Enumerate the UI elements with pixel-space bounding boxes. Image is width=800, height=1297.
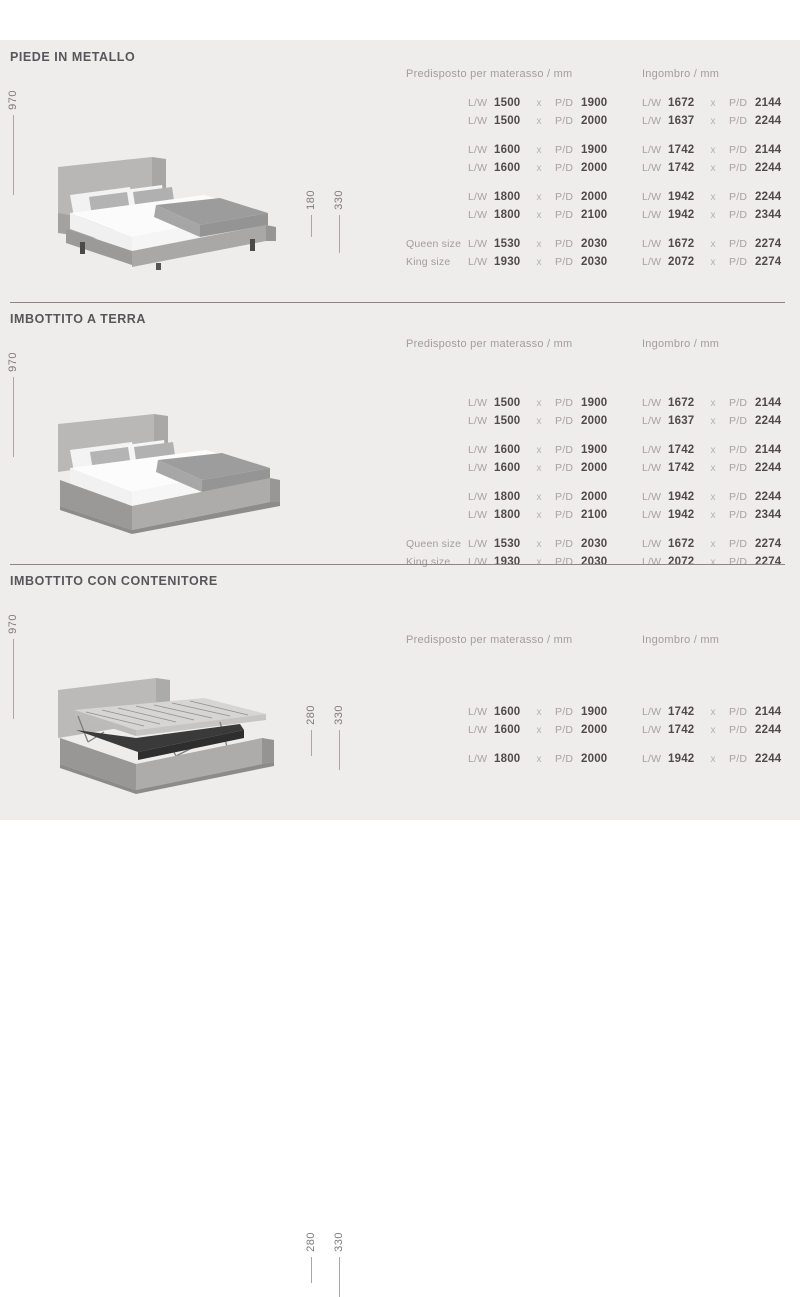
depth-value: 2000 — [581, 162, 621, 174]
table-row: L/W 1742 x P/D 2144 — [642, 706, 795, 724]
lw-label: L/W — [642, 97, 668, 109]
lw-label: L/W — [642, 538, 668, 550]
dimension-label: 180 — [306, 190, 317, 210]
lw-label: L/W — [468, 753, 494, 765]
depth-value: 2244 — [755, 115, 795, 127]
separator: x — [534, 116, 544, 127]
separator: x — [534, 492, 544, 503]
lw-label: L/W — [468, 491, 494, 503]
table-row: King size L/W 1930 x P/D 2030 — [406, 256, 621, 274]
section-imbottito-con-contenitore: IMBOTTITO CON CONTENITORE 970 — [0, 564, 800, 820]
width-value: 2072 — [668, 256, 708, 268]
overall-group-1: L/W 1742 x P/D 2144 L/W 1742 x P/D 2244 — [642, 706, 795, 742]
separator: x — [708, 98, 718, 109]
overall-group-2: L/W 1742 x P/D 2144 L/W 1742 x P/D 2244 — [642, 444, 795, 480]
table-row: L/W 1742 x P/D 2144 — [642, 444, 795, 462]
height-dimension-970: 970 — [8, 352, 19, 457]
table-row: L/W 1600 x P/D 1900 — [406, 144, 621, 162]
lw-label: L/W — [468, 509, 494, 521]
mattress-group-2: L/W 1600 x P/D 1900 L/W 1600 x P/D 2000 — [406, 444, 621, 480]
pd-label: P/D — [555, 415, 581, 427]
separator: x — [708, 754, 718, 765]
mattress-group-1: L/W 1500 x P/D 1900 L/W 1500 x P/D 2000 — [406, 397, 621, 433]
pd-label: P/D — [729, 491, 755, 503]
lw-label: L/W — [468, 238, 494, 250]
table-row: L/W 1942 x P/D 2244 — [642, 491, 795, 509]
mattress-group-4: Queen size L/W 1530 x P/D 2030 King size… — [406, 238, 621, 274]
depth-value: 2244 — [755, 491, 795, 503]
width-value: 1530 — [494, 238, 534, 250]
column-header-overall: Ingombro / mm — [642, 338, 719, 350]
separator: x — [534, 239, 544, 250]
width-value: 1672 — [668, 397, 708, 409]
lw-label: L/W — [642, 706, 668, 718]
separator: x — [534, 445, 544, 456]
dimension-line — [13, 115, 14, 195]
width-value: 1742 — [668, 144, 708, 156]
table-row: L/W 1500 x P/D 1900 — [406, 97, 621, 115]
table-row: L/W 1800 x P/D 2100 — [406, 509, 621, 527]
width-value: 1742 — [668, 706, 708, 718]
lw-label: L/W — [468, 115, 494, 127]
width-value: 1672 — [668, 538, 708, 550]
table-row: Queen size L/W 1530 x P/D 2030 — [406, 538, 621, 556]
table-row: L/W 1500 x P/D 2000 — [406, 415, 621, 433]
pd-label: P/D — [729, 256, 755, 268]
separator: x — [534, 416, 544, 427]
dimension-280: 280 — [306, 1232, 317, 1283]
table-row: L/W 1942 x P/D 2244 — [642, 753, 795, 771]
depth-value: 1900 — [581, 144, 621, 156]
width-value: 1742 — [668, 724, 708, 736]
lw-label: L/W — [468, 144, 494, 156]
pd-label: P/D — [555, 256, 581, 268]
storage-bed-illustration — [44, 664, 294, 799]
width-value: 1800 — [494, 191, 534, 203]
lw-label: L/W — [642, 509, 668, 521]
section-divider — [10, 302, 785, 303]
height-dimension-970: 970 — [8, 90, 19, 195]
lw-label: L/W — [642, 191, 668, 203]
width-value: 1800 — [494, 509, 534, 521]
width-value: 1800 — [494, 491, 534, 503]
pd-label: P/D — [729, 144, 755, 156]
bed-image-metal-leg — [44, 145, 294, 270]
table-row: L/W 1637 x P/D 2244 — [642, 115, 795, 133]
pd-label: P/D — [729, 509, 755, 521]
pd-label: P/D — [555, 97, 581, 109]
width-value: 1672 — [668, 97, 708, 109]
lw-label: L/W — [642, 209, 668, 221]
overall-group-1: L/W 1672 x P/D 2144 L/W 1637 x P/D 2244 — [642, 397, 795, 433]
lw-label: L/W — [468, 97, 494, 109]
lw-label: L/W — [642, 444, 668, 456]
pd-label: P/D — [555, 444, 581, 456]
pd-label: P/D — [555, 115, 581, 127]
separator: x — [708, 492, 718, 503]
width-value: 1600 — [494, 144, 534, 156]
table-row: L/W 1500 x P/D 1900 — [406, 397, 621, 415]
depth-value: 2100 — [581, 509, 621, 521]
depth-value: 2244 — [755, 162, 795, 174]
pd-label: P/D — [555, 724, 581, 736]
pd-label: P/D — [555, 753, 581, 765]
width-value: 1742 — [668, 162, 708, 174]
bed-image-floor-upholstered — [44, 402, 294, 537]
depth-value: 2144 — [755, 97, 795, 109]
pd-label: P/D — [729, 724, 755, 736]
table-row: L/W 1672 x P/D 2144 — [642, 397, 795, 415]
overall-group-4: L/W 1672 x P/D 2274 L/W 2072 x P/D 2274 — [642, 238, 795, 274]
table-row: L/W 1800 x P/D 2000 — [406, 491, 621, 509]
section-title: IMBOTTITO A TERRA — [10, 312, 146, 326]
depth-value: 2274 — [755, 256, 795, 268]
depth-value: 2000 — [581, 415, 621, 427]
depth-value: 2274 — [755, 538, 795, 550]
depth-value: 2244 — [755, 462, 795, 474]
pd-label: P/D — [729, 462, 755, 474]
width-value: 1500 — [494, 415, 534, 427]
depth-value: 2000 — [581, 753, 621, 765]
height-dimension-label: 970 — [8, 90, 19, 110]
dimension-line — [311, 215, 312, 237]
separator: x — [708, 116, 718, 127]
dimension-label: 330 — [334, 190, 345, 210]
dimension-line — [13, 377, 14, 457]
separator: x — [708, 257, 718, 268]
lw-label: L/W — [642, 462, 668, 474]
width-value: 1742 — [668, 462, 708, 474]
width-value: 1530 — [494, 538, 534, 550]
width-value: 1930 — [494, 256, 534, 268]
table-row: L/W 1800 x P/D 2100 — [406, 209, 621, 227]
separator: x — [534, 754, 544, 765]
width-value: 1600 — [494, 162, 534, 174]
width-value: 1600 — [494, 462, 534, 474]
lw-label: L/W — [468, 397, 494, 409]
width-value: 1942 — [668, 753, 708, 765]
depth-value: 2244 — [755, 415, 795, 427]
depth-value: 2344 — [755, 209, 795, 221]
section-divider — [10, 564, 785, 565]
pd-label: P/D — [729, 706, 755, 718]
table-row: Queen size L/W 1530 x P/D 2030 — [406, 238, 621, 256]
column-header-mattress: Predisposto per materasso / mm — [406, 68, 572, 80]
table-row: L/W 1800 x P/D 2000 — [406, 753, 621, 771]
table-row: L/W 2072 x P/D 2274 — [642, 256, 795, 274]
depth-value: 2244 — [755, 191, 795, 203]
depth-value: 1900 — [581, 444, 621, 456]
separator: x — [708, 463, 718, 474]
width-value: 1500 — [494, 115, 534, 127]
table-row: L/W 1600 x P/D 2000 — [406, 462, 621, 480]
lw-label: L/W — [642, 238, 668, 250]
separator: x — [534, 210, 544, 221]
depth-value: 2000 — [581, 724, 621, 736]
depth-value: 2100 — [581, 209, 621, 221]
section-title: IMBOTTITO CON CONTENITORE — [10, 574, 218, 588]
mattress-group-1: L/W 1600 x P/D 1900 L/W 1600 x P/D 2000 — [406, 706, 621, 742]
depth-value: 2244 — [755, 753, 795, 765]
column-header-overall: Ingombro / mm — [642, 68, 719, 80]
table-row: L/W 1600 x P/D 2000 — [406, 162, 621, 180]
width-value: 1600 — [494, 724, 534, 736]
table-row: L/W 1672 x P/D 2274 — [642, 238, 795, 256]
pd-label: P/D — [729, 209, 755, 221]
depth-value: 2144 — [755, 444, 795, 456]
table-row: L/W 1942 x P/D 2344 — [642, 209, 795, 227]
separator: x — [534, 145, 544, 156]
lw-label: L/W — [642, 397, 668, 409]
lw-label: L/W — [642, 491, 668, 503]
depth-value: 2030 — [581, 538, 621, 550]
lw-label: L/W — [468, 706, 494, 718]
width-value: 1500 — [494, 397, 534, 409]
separator: x — [708, 163, 718, 174]
dimension-line — [311, 1257, 312, 1283]
depth-value: 2000 — [581, 115, 621, 127]
lw-label: L/W — [468, 162, 494, 174]
depth-value: 2244 — [755, 724, 795, 736]
table-row: L/W 1672 x P/D 2274 — [642, 538, 795, 556]
dimension-330: 330 — [334, 1232, 345, 1297]
pd-label: P/D — [729, 238, 755, 250]
separator: x — [708, 416, 718, 427]
lw-label: L/W — [642, 162, 668, 174]
width-value: 1637 — [668, 115, 708, 127]
pd-label: P/D — [555, 491, 581, 503]
depth-value: 2030 — [581, 256, 621, 268]
separator: x — [708, 725, 718, 736]
width-value: 1672 — [668, 238, 708, 250]
table-row: L/W 1637 x P/D 2244 — [642, 415, 795, 433]
pd-label: P/D — [555, 509, 581, 521]
lw-label: L/W — [642, 256, 668, 268]
lw-label: L/W — [642, 724, 668, 736]
bed-image-storage — [44, 664, 294, 799]
separator: x — [708, 239, 718, 250]
lw-label: L/W — [468, 444, 494, 456]
pd-label: P/D — [729, 97, 755, 109]
section-piede-in-metallo: PIEDE IN METALLO 970 — [0, 40, 800, 302]
depth-value: 2144 — [755, 706, 795, 718]
table-row: L/W 1742 x P/D 2244 — [642, 724, 795, 742]
pd-label: P/D — [729, 397, 755, 409]
mattress-group-1: L/W 1500 x P/D 1900 L/W 1500 x P/D 2000 — [406, 97, 621, 133]
overall-group-1: L/W 1672 x P/D 2144 L/W 1637 x P/D 2244 — [642, 97, 795, 133]
table-row: L/W 1500 x P/D 2000 — [406, 115, 621, 133]
separator: x — [708, 210, 718, 221]
width-value: 1942 — [668, 491, 708, 503]
depth-value: 2274 — [755, 238, 795, 250]
floor-upholstered-bed-illustration — [44, 402, 294, 537]
pd-label: P/D — [555, 538, 581, 550]
size-label: Queen size — [406, 238, 468, 250]
pd-label: P/D — [729, 753, 755, 765]
pd-label: P/D — [729, 162, 755, 174]
pd-label: P/D — [555, 706, 581, 718]
size-label: King size — [406, 256, 468, 268]
depth-value: 1900 — [581, 706, 621, 718]
table-row: L/W 1672 x P/D 2144 — [642, 97, 795, 115]
table-row: L/W 1742 x P/D 2244 — [642, 162, 795, 180]
height-dimension-970: 970 — [8, 614, 19, 719]
column-header-mattress: Predisposto per materasso / mm — [406, 338, 572, 350]
dimension-330: 330 — [334, 190, 345, 253]
separator: x — [534, 539, 544, 550]
separator: x — [534, 707, 544, 718]
width-value: 1942 — [668, 191, 708, 203]
width-value: 1800 — [494, 753, 534, 765]
separator: x — [708, 145, 718, 156]
table-row: L/W 1600 x P/D 1900 — [406, 706, 621, 724]
depth-value: 1900 — [581, 397, 621, 409]
mattress-group-2: L/W 1600 x P/D 1900 L/W 1600 x P/D 2000 — [406, 144, 621, 180]
overall-group-3: L/W 1942 x P/D 2244 L/W 1942 x P/D 2344 — [642, 191, 795, 227]
depth-value: 2000 — [581, 491, 621, 503]
lw-label: L/W — [642, 144, 668, 156]
separator: x — [708, 398, 718, 409]
depth-value: 2144 — [755, 144, 795, 156]
table-row: L/W 1600 x P/D 1900 — [406, 444, 621, 462]
dimension-line — [13, 639, 14, 719]
dimension-label: 280 — [306, 1232, 317, 1252]
table-row: L/W 1742 x P/D 2244 — [642, 462, 795, 480]
overall-group-2: L/W 1742 x P/D 2144 L/W 1742 x P/D 2244 — [642, 144, 795, 180]
pd-label: P/D — [555, 209, 581, 221]
lw-label: L/W — [468, 462, 494, 474]
mattress-group-3: L/W 1800 x P/D 2000 L/W 1800 x P/D 2100 — [406, 491, 621, 527]
separator: x — [534, 98, 544, 109]
spec-sheet: PIEDE IN METALLO 970 — [0, 40, 800, 820]
width-value: 1600 — [494, 444, 534, 456]
table-row: L/W 1942 x P/D 2244 — [642, 191, 795, 209]
pd-label: P/D — [555, 462, 581, 474]
separator: x — [534, 192, 544, 203]
depth-value: 2030 — [581, 238, 621, 250]
pd-label: P/D — [555, 238, 581, 250]
pd-label: P/D — [555, 144, 581, 156]
lw-label: L/W — [642, 415, 668, 427]
pd-label: P/D — [555, 162, 581, 174]
depth-value: 2344 — [755, 509, 795, 521]
table-row: L/W 1742 x P/D 2144 — [642, 144, 795, 162]
lw-label: L/W — [468, 538, 494, 550]
mattress-group-2: L/W 1800 x P/D 2000 — [406, 753, 621, 771]
lw-label: L/W — [468, 256, 494, 268]
mattress-group-3: L/W 1800 x P/D 2000 L/W 1800 x P/D 2100 — [406, 191, 621, 227]
width-value: 1942 — [668, 509, 708, 521]
separator: x — [534, 398, 544, 409]
size-label: Queen size — [406, 538, 468, 550]
dimension-label: 330 — [334, 1232, 345, 1252]
pd-label: P/D — [555, 191, 581, 203]
separator: x — [534, 163, 544, 174]
lw-label: L/W — [468, 191, 494, 203]
pd-label: P/D — [729, 415, 755, 427]
overall-group-3: L/W 1942 x P/D 2244 L/W 1942 x P/D 2344 — [642, 491, 795, 527]
separator: x — [708, 539, 718, 550]
pd-label: P/D — [555, 397, 581, 409]
metal-leg-bed-illustration — [44, 145, 294, 270]
separator: x — [534, 510, 544, 521]
separator: x — [534, 257, 544, 268]
table-row: L/W 1942 x P/D 2344 — [642, 509, 795, 527]
table-row: L/W 1800 x P/D 2000 — [406, 191, 621, 209]
separator: x — [708, 510, 718, 521]
section-imbottito-a-terra: IMBOTTITO A TERRA 970 — [0, 302, 800, 564]
width-value: 1600 — [494, 706, 534, 718]
section-title: PIEDE IN METALLO — [10, 50, 135, 64]
separator: x — [534, 725, 544, 736]
width-value: 1500 — [494, 97, 534, 109]
depth-value: 2000 — [581, 191, 621, 203]
depth-value: 1900 — [581, 97, 621, 109]
depth-value: 2000 — [581, 462, 621, 474]
dimension-line — [339, 1257, 340, 1297]
dimension-line — [339, 215, 340, 253]
separator: x — [708, 192, 718, 203]
pd-label: P/D — [729, 191, 755, 203]
table-row: L/W 1600 x P/D 2000 — [406, 724, 621, 742]
column-header-mattress: Predisposto per materasso / mm — [406, 634, 572, 646]
lw-label: L/W — [468, 415, 494, 427]
lw-label: L/W — [642, 115, 668, 127]
dimension-180: 180 — [306, 190, 317, 237]
pd-label: P/D — [729, 444, 755, 456]
overall-group-2: L/W 1942 x P/D 2244 — [642, 753, 795, 771]
lw-label: L/W — [468, 724, 494, 736]
width-value: 1637 — [668, 415, 708, 427]
separator: x — [534, 463, 544, 474]
pd-label: P/D — [729, 115, 755, 127]
column-header-overall: Ingombro / mm — [642, 634, 719, 646]
pd-label: P/D — [729, 538, 755, 550]
depth-value: 2144 — [755, 397, 795, 409]
separator: x — [708, 707, 718, 718]
height-dimension-label: 970 — [8, 352, 19, 372]
width-value: 1800 — [494, 209, 534, 221]
lw-label: L/W — [468, 209, 494, 221]
width-value: 1942 — [668, 209, 708, 221]
width-value: 1742 — [668, 444, 708, 456]
height-dimension-label: 970 — [8, 614, 19, 634]
separator: x — [708, 445, 718, 456]
lw-label: L/W — [642, 753, 668, 765]
